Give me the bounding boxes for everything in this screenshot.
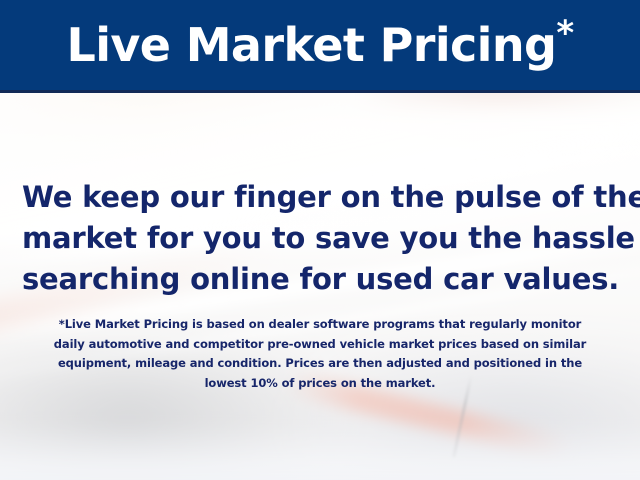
- page-title-asterisk: *: [556, 13, 573, 53]
- headline-line-2: market for you to save you the hassle of: [22, 218, 618, 259]
- header-band: Live Market Pricing*: [0, 0, 640, 93]
- disclaimer-line-2: daily automotive and competitor pre-owne…: [20, 335, 620, 355]
- headline-text: We keep our finger on the pulse of the m…: [22, 177, 618, 300]
- headline-line-3: searching online for used car values.: [22, 259, 618, 300]
- disclaimer-line-3: equipment, mileage and condition. Prices…: [20, 354, 620, 374]
- headline-line-1: We keep our finger on the pulse of the: [22, 177, 618, 218]
- disclaimer-line-1: *Live Market Pricing is based on dealer …: [20, 315, 620, 335]
- disclaimer-line-4: lowest 10% of prices on the market.: [20, 374, 620, 394]
- content-area: We keep our finger on the pulse of the m…: [0, 93, 640, 480]
- disclaimer-text: *Live Market Pricing is based on dealer …: [20, 315, 620, 393]
- live-market-pricing-banner: Live Market Pricing* We keep our finger …: [0, 0, 640, 480]
- page-title: Live Market Pricing*: [66, 22, 573, 68]
- page-title-text: Live Market Pricing: [66, 18, 556, 72]
